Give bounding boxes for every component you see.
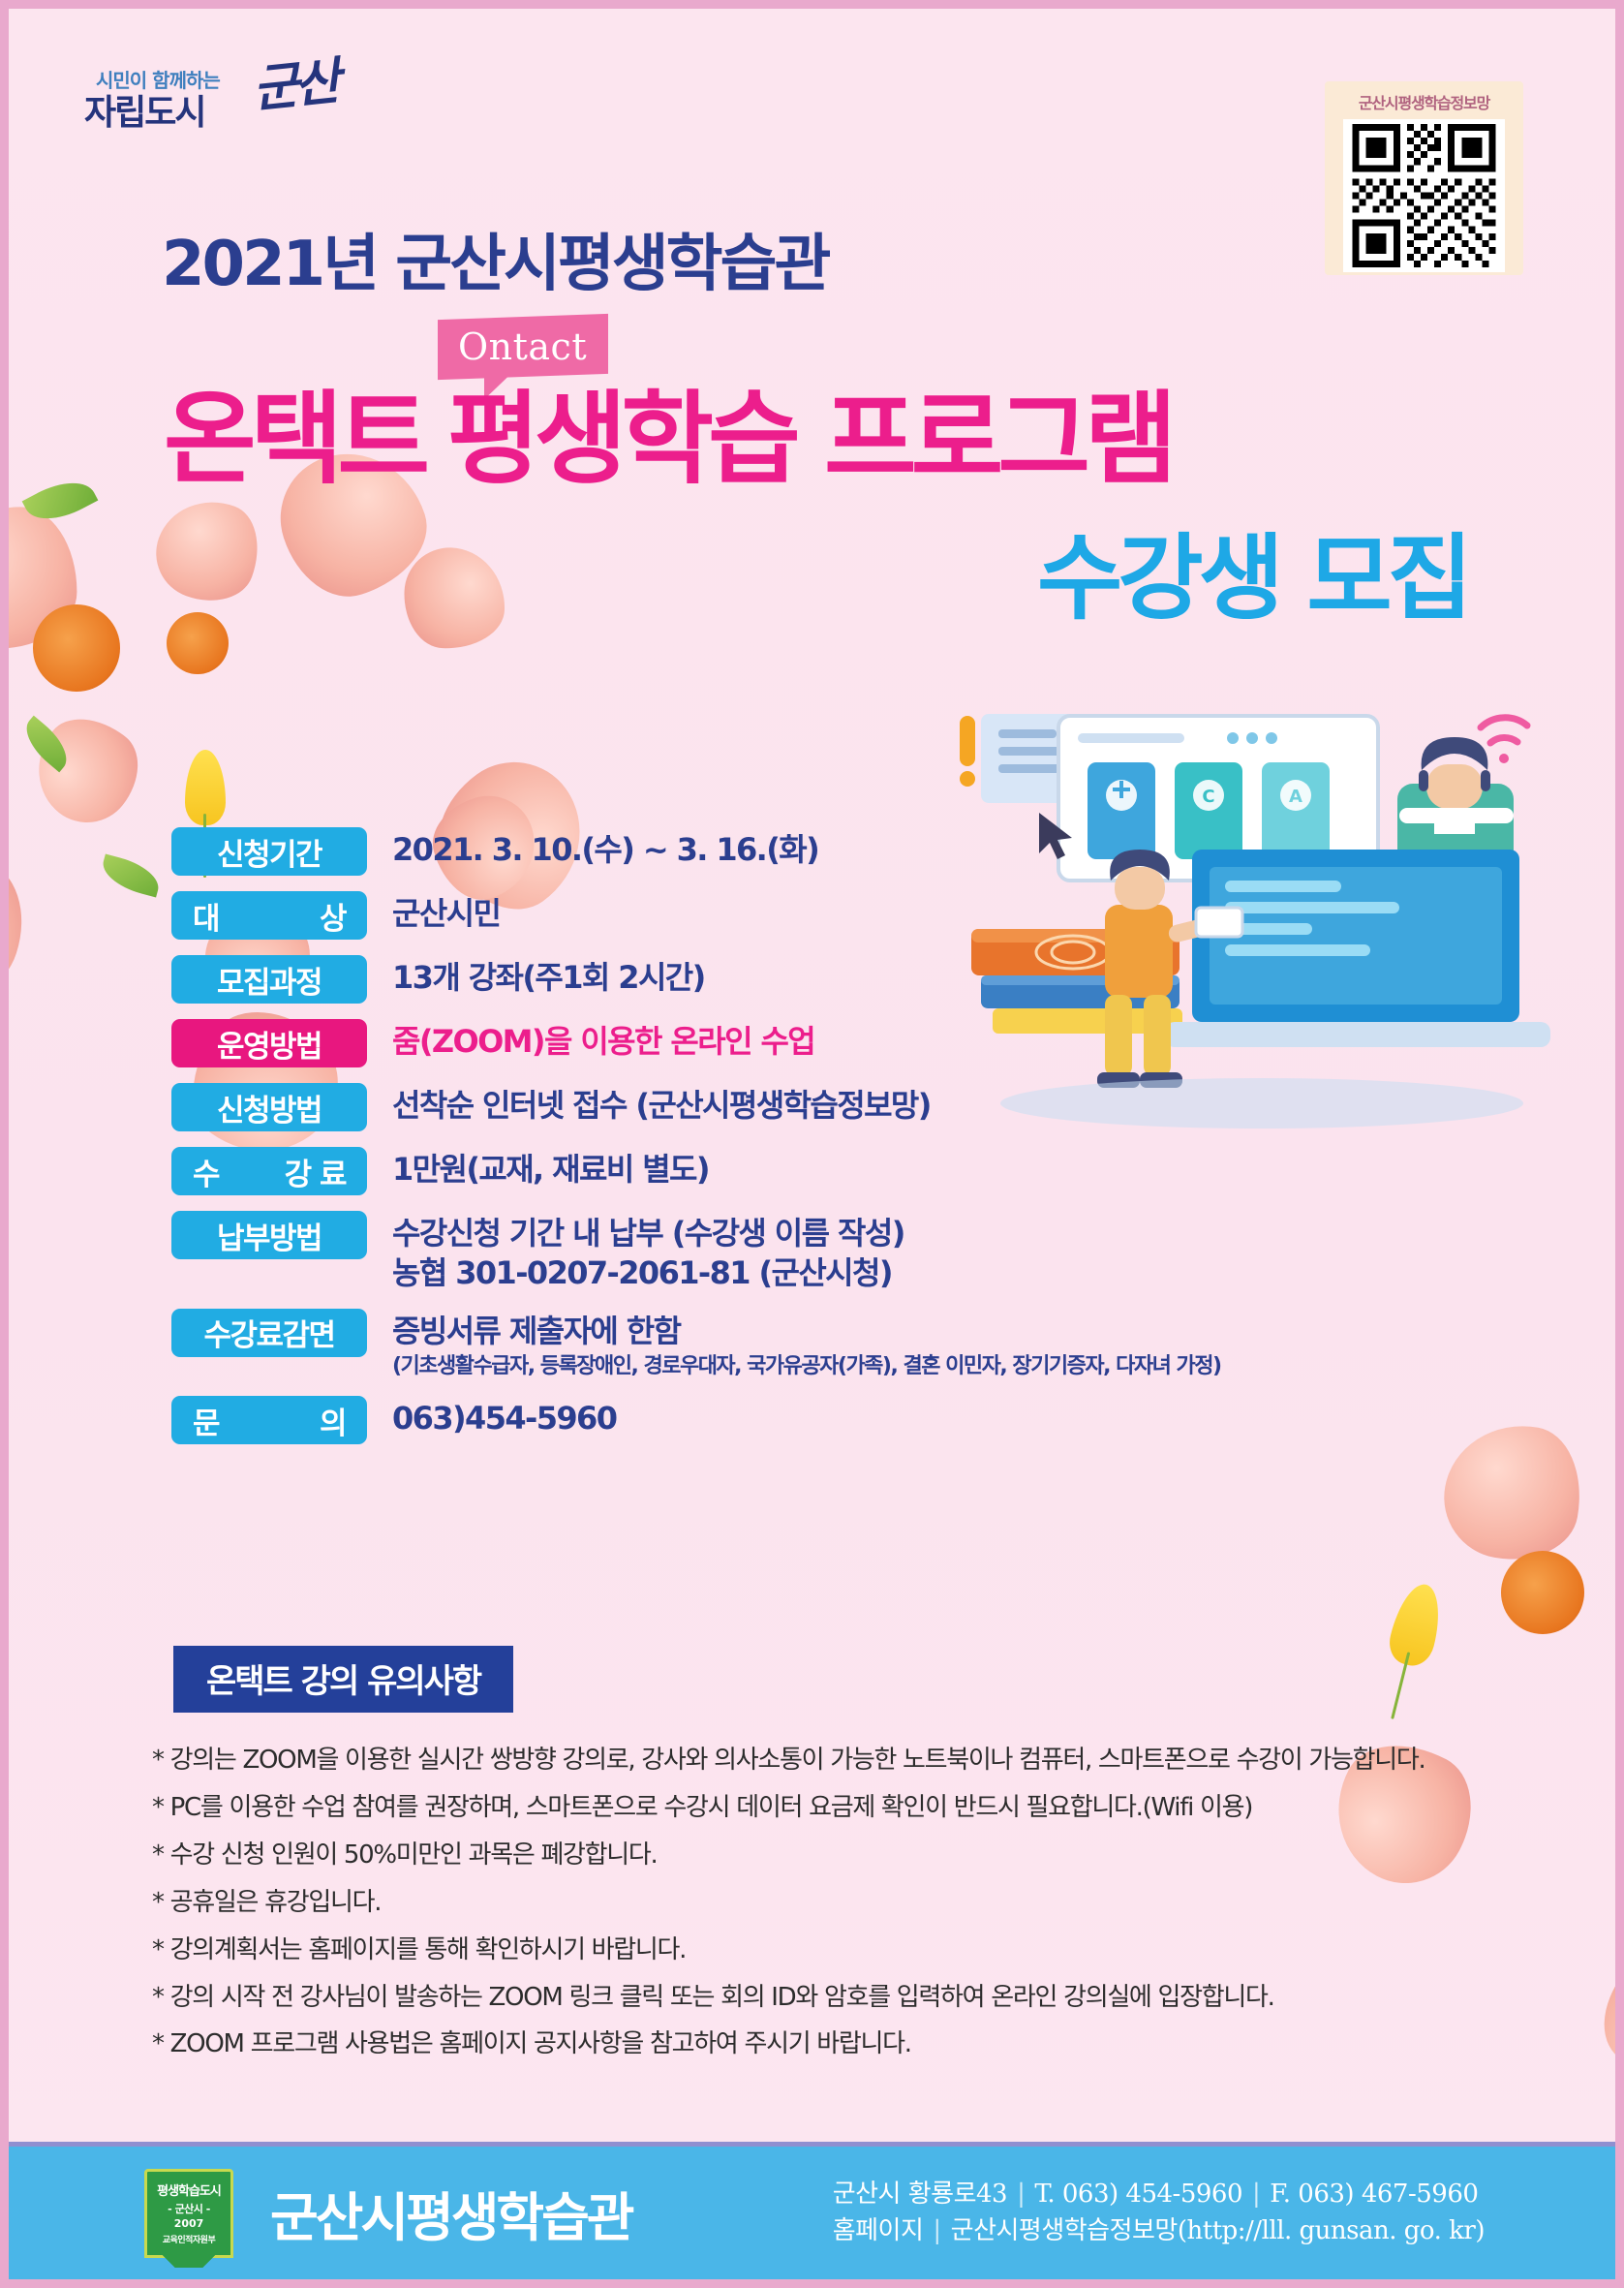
city-logo-brushname: 군산 (251, 57, 339, 116)
wifi-icon (1481, 718, 1527, 763)
info-value: 증빙서류 제출자에 한함 (기초생활수급자, 등록장애인, 경로우대자, 국가유… (392, 1309, 1221, 1380)
qr-block[interactable]: 군산시평생학습정보망 (1325, 81, 1523, 275)
info-row-method: 운영방법 줌(ZOOM)을 이용한 온라인 수업 (171, 1019, 1392, 1067)
title-word-ontact: 온택트 (164, 380, 424, 498)
tulip-decoration (1374, 1579, 1448, 1712)
petal (0, 507, 77, 648)
poster-canvas: 시민이 함께하는 자립도시 군산 군산시평생학습정보망 (0, 0, 1624, 2288)
gunsan-city-logo: 시민이 함께하는 자립도시 군산 (84, 65, 336, 140)
info-value: 군산시민 (392, 891, 500, 934)
flower-decoration-left-mid (101, 546, 294, 740)
info-row-payment: 납부방법 수강신청 기간 내 납부 (수강생 이름 작성) 농협 301-020… (171, 1211, 1392, 1293)
info-label: 수강료감면 (171, 1309, 367, 1357)
info-row-target: 대 상 군산시민 (171, 891, 1392, 940)
petal (403, 546, 507, 651)
leaf-decoration (98, 853, 164, 897)
title-word-program: 평생학습 프로그램 (447, 380, 1172, 498)
note-item: * 강의는 ZOOM을 이용한 실시간 쌍방향 강의로, 강사와 의사소통이 가… (152, 1743, 1527, 1778)
petal (0, 836, 40, 1013)
info-value: 수강신청 기간 내 납부 (수강생 이름 작성) 농협 301-0207-206… (392, 1211, 904, 1293)
svg-text:C: C (1202, 787, 1214, 807)
info-label-part1: 대 (193, 894, 219, 938)
info-value-line2: 농협 301-0207-2061-81 (군산시청) (392, 1253, 904, 1293)
footer-logo-line2: - 군산시 - (168, 2201, 210, 2216)
info-value-line1: 증빙서류 제출자에 한함 (392, 1312, 1221, 1351)
info-label: 모집과정 (171, 955, 367, 1004)
info-label: 문 의 (171, 1396, 367, 1444)
qr-caption: 군산시평생학습정보망 (1359, 90, 1489, 113)
info-label: 신청방법 (171, 1083, 367, 1131)
note-item: * 공휴일은 휴강입니다. (152, 1885, 1527, 1921)
note-item: * 강의 시작 전 강사님이 발송하는 ZOOM 링크 클릭 또는 회의 ID와… (152, 1980, 1527, 2016)
footer-logo-line4: 교육인적자원부 (163, 2233, 215, 2245)
poster-title-main: 온택트평생학습 프로그램 (164, 388, 1172, 489)
notes-list: * 강의는 ZOOM을 이용한 실시간 쌍방향 강의로, 강사와 의사소통이 가… (152, 1743, 1527, 2074)
svg-text:A: A (1289, 787, 1302, 807)
note-item: * ZOOM 프로그램 사용법은 홈페이지 공지사항을 참고하여 주시기 바랍니… (152, 2026, 1527, 2062)
footer-logo-line1: 평생학습도시 (157, 2180, 221, 2199)
info-value: 2021. 3. 10.(수) ~ 3. 16.(화) (392, 827, 818, 870)
info-value: 13개 강좌(주1회 2시간) (392, 955, 705, 998)
info-label: 운영방법 (171, 1019, 367, 1067)
note-item: * 강의계획서는 홈페이지를 통해 확인하시기 바랍니다. (152, 1932, 1527, 1968)
info-label: 납부방법 (171, 1211, 367, 1259)
note-item: * PC를 이용한 수업 참여를 권장하며, 스마트폰으로 수강시 데이터 요금… (152, 1790, 1527, 1826)
footer-contact-line2: 홈페이지|군산시평생학습정보망(http://lll. gunsan. go. … (833, 2213, 1485, 2250)
note-item: * 수강 신청 인원이 50%미만인 과목은 폐강합니다. (152, 1838, 1527, 1873)
flower-center (1501, 1551, 1584, 1634)
tulip-bud (1385, 1579, 1448, 1669)
poster-subtitle: 2021년 군산시평생학습관 (162, 214, 828, 303)
info-row-inquiry: 문 의 063)454-5960 (171, 1396, 1392, 1444)
footer-separator: | (923, 2216, 950, 2245)
footer-logo-line3: 2007 (174, 2217, 204, 2230)
info-value-line1: 수강신청 기간 내 납부 (수강생 이름 작성) (392, 1214, 904, 1253)
info-label-part2: 강 료 (285, 1150, 346, 1193)
ontact-badge: Ontact (438, 314, 608, 380)
info-label: 신청기간 (171, 827, 367, 876)
petal (1578, 1921, 1624, 2114)
footer-fax: F. 063) 467-5960 (1270, 2180, 1478, 2209)
info-row-fee-reduction: 수강료감면 증빙서류 제출자에 한함 (기초생활수급자, 등록장애인, 경로우대… (171, 1309, 1392, 1380)
footer-separator: | (1007, 2180, 1034, 2209)
poster-title-recruit: 수강생 모집 (1037, 532, 1468, 625)
info-value: 063)454-5960 (392, 1396, 616, 1438)
info-value-note: (기초생활수급자, 등록장애인, 경로우대자, 국가유공자(가족), 결혼 이민… (392, 1353, 1221, 1380)
flower-center (167, 612, 229, 674)
footer-organization-name: 군산시평생학습관 (270, 2175, 631, 2251)
info-label-part1: 문 (193, 1399, 219, 1442)
footer-tel: T. 063) 454-5960 (1034, 2180, 1242, 2209)
footer-contact-info: 군산시 황룡로43|T. 063) 454-5960|F. 063) 467-5… (833, 2177, 1485, 2249)
lifelong-learning-city-logo: 평생학습도시 - 군산시 - 2007 교육인적자원부 (144, 2169, 233, 2258)
flower-center (33, 604, 120, 692)
footer-separator: | (1242, 2180, 1270, 2209)
footer-contact-line1: 군산시 황룡로43|T. 063) 454-5960|F. 063) 467-5… (833, 2177, 1485, 2213)
petal (1434, 1413, 1592, 1571)
footer-homepage-label: 홈페이지 (833, 2216, 924, 2245)
info-value: 줌(ZOOM)을 이용한 온라인 수업 (392, 1019, 814, 1062)
notes-section-header: 온택트 강의 유의사항 (173, 1646, 513, 1713)
info-label-part2: 의 (320, 1399, 346, 1442)
info-row-courses: 모집과정 13개 강좌(주1회 2시간) (171, 955, 1392, 1004)
city-logo-label: 자립도시 (84, 84, 204, 135)
info-label: 대 상 (171, 891, 367, 940)
info-value: 1만원(교재, 재료비 별도) (392, 1147, 709, 1190)
info-row-application-period: 신청기간 2021. 3. 10.(수) ~ 3. 16.(화) (171, 827, 1392, 876)
info-label-part1: 수 (193, 1150, 219, 1193)
info-row-fee: 수 강 료 1만원(교재, 재료비 별도) (171, 1147, 1392, 1195)
info-row-how-to-apply: 신청방법 선착순 인터넷 접수 (군산시평생학습정보망) (171, 1083, 1392, 1131)
info-label: 수 강 료 (171, 1147, 367, 1195)
leaf-decoration (22, 470, 99, 533)
info-table: 신청기간 2021. 3. 10.(수) ~ 3. 16.(화) 대 상 군산시… (171, 827, 1392, 1460)
footer-homepage-url[interactable]: 군산시평생학습정보망(http://lll. gunsan. go. kr) (951, 2216, 1485, 2245)
qr-code-icon[interactable] (1343, 119, 1505, 272)
footer-bar: 평생학습도시 - 군산시 - 2007 교육인적자원부 군산시평생학습관 군산시… (9, 2142, 1615, 2279)
petal (143, 485, 272, 614)
info-label-part2: 상 (320, 894, 346, 938)
footer-address: 군산시 황룡로43 (833, 2180, 1007, 2209)
info-value: 선착순 인터넷 접수 (군산시평생학습정보망) (392, 1083, 931, 1126)
ontact-badge-label: Ontact (458, 325, 587, 368)
leaf-decoration (16, 716, 77, 773)
